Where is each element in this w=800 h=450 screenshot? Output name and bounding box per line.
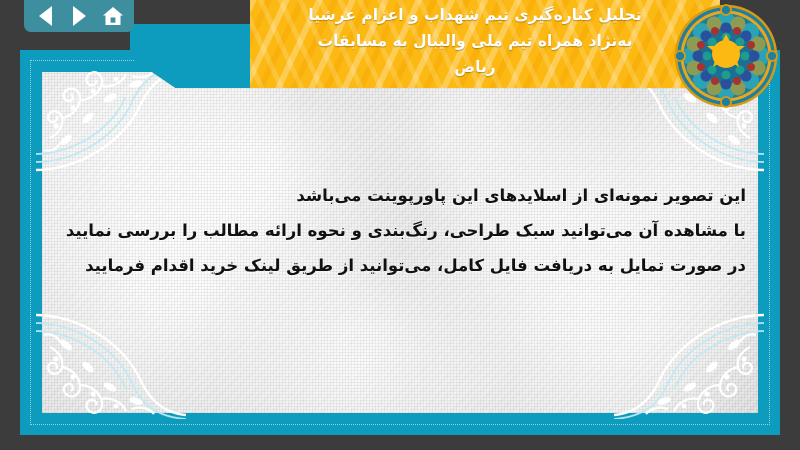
home-icon (102, 6, 124, 26)
back-button[interactable] (30, 2, 60, 30)
body-line-1: این تصویر نمونه‌ای از اسلایدهای این پاور… (20, 178, 746, 213)
arrow-right-icon (73, 6, 86, 26)
slide-body-text: این تصویر نمونه‌ای از اسلایدهای این پاور… (20, 178, 746, 283)
body-line-3: در صورت تمایل به دریافت فایل کامل، می‌تو… (20, 248, 746, 283)
slide-viewer: این تصویر نمونه‌ای از اسلایدهای این پاور… (0, 0, 800, 450)
body-line-2: با مشاهده آن می‌توانید سبک طراحی، رنگ‌بن… (20, 213, 746, 248)
home-button[interactable] (98, 2, 128, 30)
forward-button[interactable] (64, 2, 94, 30)
slide-canvas: این تصویر نمونه‌ای از اسلایدهای این پاور… (20, 50, 780, 435)
navigation-bar (24, 0, 134, 32)
arrow-left-icon (39, 6, 52, 26)
